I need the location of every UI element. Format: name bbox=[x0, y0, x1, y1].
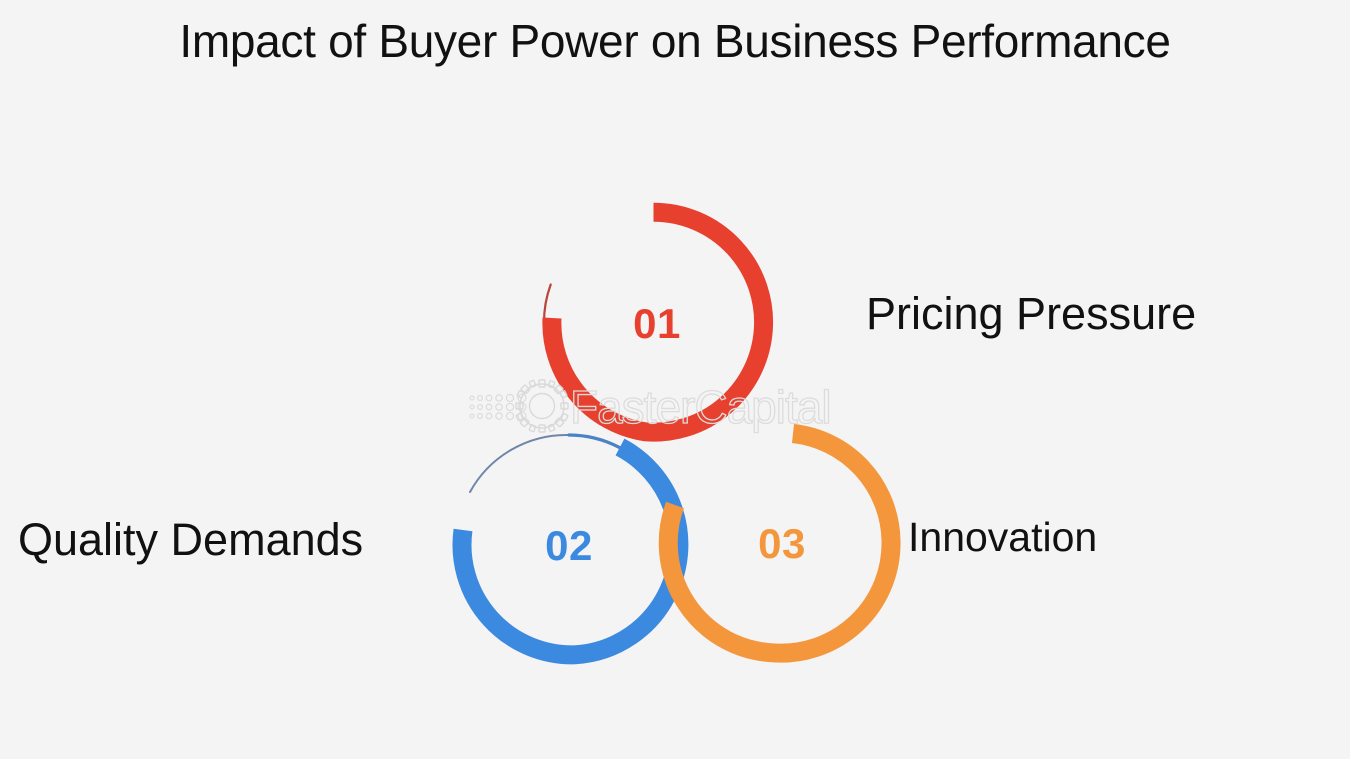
ring-label-pricing-pressure: Pricing Pressure bbox=[866, 288, 1196, 340]
ring-label-quality-demands: Quality Demands bbox=[18, 514, 363, 566]
ring-number-03: 03 bbox=[758, 520, 806, 568]
infographic-canvas: Impact of Buyer Power on Business Perfor… bbox=[0, 0, 1350, 759]
ring-02-thin-arc bbox=[470, 435, 569, 492]
ring-label-innovation: Innovation bbox=[908, 514, 1097, 561]
ring-diagram-svg bbox=[0, 0, 1350, 759]
ring-diagram bbox=[0, 0, 1350, 759]
ring-number-02: 02 bbox=[545, 522, 593, 570]
ring-number-01: 01 bbox=[633, 300, 681, 348]
